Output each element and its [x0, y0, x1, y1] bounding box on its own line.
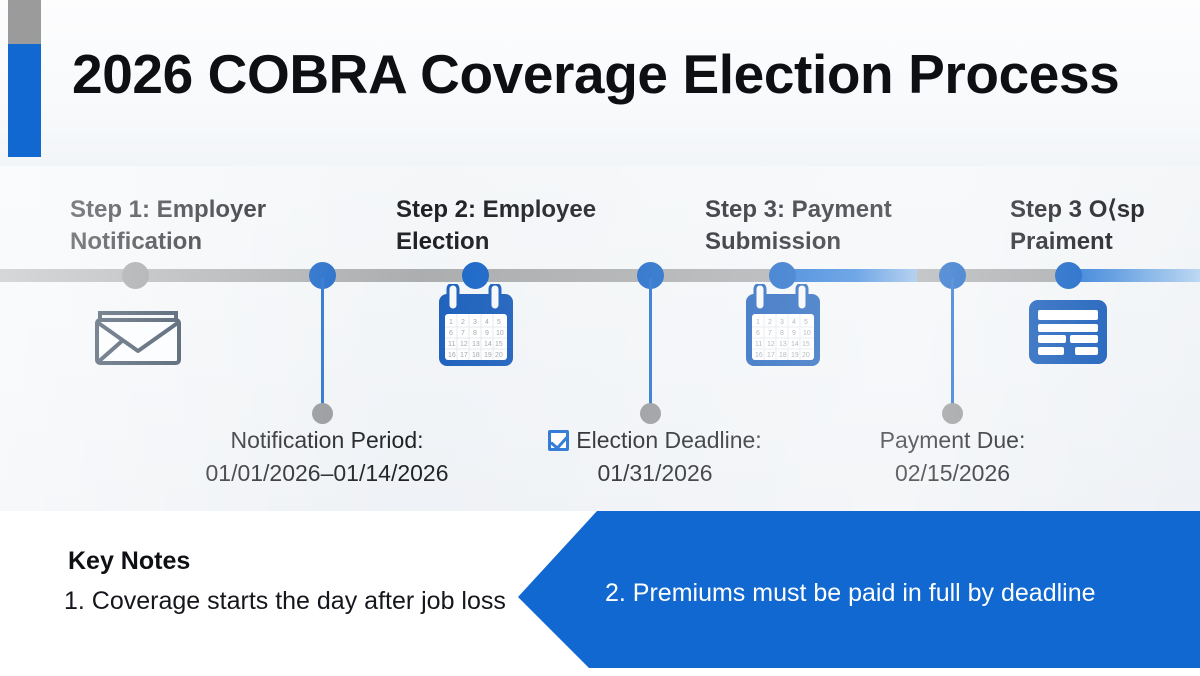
svg-text:13: 13: [472, 341, 480, 348]
svg-text:6: 6: [756, 330, 760, 337]
svg-text:19: 19: [791, 352, 799, 359]
step-title-4: Step 3 Ο⟨sp Praiment: [1010, 194, 1145, 257]
timeline-node-1[interactable]: [122, 262, 149, 289]
svg-text:19: 19: [484, 352, 492, 359]
milestone-2-value: 01/31/2026: [510, 457, 800, 490]
connector-dot-1: [312, 403, 333, 424]
milestone-2-line: Election Deadline:: [510, 424, 800, 457]
svg-text:11: 11: [755, 341, 762, 348]
svg-text:20: 20: [495, 352, 503, 359]
svg-text:15: 15: [802, 341, 810, 348]
connector-dot-3: [942, 403, 963, 424]
slide-canvas: 2026 COBRA Coverage Election Process Ste…: [0, 0, 1200, 676]
svg-text:13: 13: [779, 341, 787, 348]
timeline-band: Step 1: Employer Notification Step 2: Em…: [0, 166, 1200, 511]
connector-stem-1: [321, 278, 324, 412]
timeline-rail-highlight-2: [1068, 269, 1200, 282]
svg-text:5: 5: [497, 319, 501, 326]
milestone-1: Notification Period: 01/01/2026–01/14/20…: [182, 424, 472, 489]
connector-dot-2: [640, 403, 661, 424]
connector-stem-2: [649, 278, 652, 412]
milestone-3: Payment Due: 02/15/2026: [830, 424, 1075, 489]
svg-text:8: 8: [473, 330, 477, 337]
svg-text:2: 2: [768, 319, 772, 326]
svg-text:9: 9: [792, 330, 796, 337]
accent-bar-blue: [8, 44, 41, 157]
svg-text:18: 18: [779, 352, 787, 359]
payment-card-icon: [1029, 300, 1107, 369]
svg-text:5: 5: [804, 319, 808, 326]
envelope-icon: [92, 302, 184, 373]
svg-text:9: 9: [485, 330, 489, 337]
svg-text:1: 1: [756, 319, 760, 326]
header-band: 2026 COBRA Coverage Election Process: [0, 0, 1200, 166]
timeline-node-7[interactable]: [1055, 262, 1082, 289]
svg-text:6: 6: [449, 330, 453, 337]
svg-text:18: 18: [472, 352, 480, 359]
svg-text:10: 10: [803, 330, 811, 337]
svg-text:12: 12: [767, 341, 775, 348]
svg-text:20: 20: [802, 352, 810, 359]
step-title-3: Step 3: Payment Submission: [705, 194, 892, 257]
milestone-2: Election Deadline: 01/31/2026: [510, 424, 800, 489]
svg-text:11: 11: [448, 341, 455, 348]
timeline-rail: [0, 269, 1200, 282]
svg-text:2: 2: [461, 319, 465, 326]
svg-text:14: 14: [484, 341, 492, 348]
milestone-3-value: 02/15/2026: [830, 457, 1075, 490]
svg-text:12: 12: [460, 341, 468, 348]
svg-text:4: 4: [792, 319, 796, 326]
svg-text:4: 4: [485, 319, 489, 326]
svg-text:17: 17: [460, 352, 468, 359]
svg-text:10: 10: [496, 330, 504, 337]
svg-text:14: 14: [791, 341, 799, 348]
milestone-3-label: Payment Due:: [830, 424, 1075, 457]
checkbox-checked-icon[interactable]: [548, 430, 569, 451]
key-notes-title: Key Notes: [68, 547, 190, 576]
timeline-rail-highlight-1: [782, 269, 917, 282]
connector-stem-3: [951, 278, 954, 412]
key-note-1: 1. Coverage starts the day after job los…: [64, 587, 506, 616]
accent-bar-gray: [8, 0, 41, 44]
step-title-2: Step 2: Employee Election: [396, 194, 596, 257]
calendar-icon-2: 12345 678910 1112131415 1617181920: [436, 284, 516, 375]
page-title: 2026 COBRA Coverage Election Process: [72, 42, 1119, 106]
svg-text:3: 3: [473, 319, 477, 326]
svg-text:7: 7: [461, 330, 465, 337]
svg-text:3: 3: [780, 319, 784, 326]
calendar-icon-3: 12345 678910 1112131415 1617181920: [743, 284, 823, 375]
step-title-1: Step 1: Employer Notification: [70, 194, 266, 257]
milestone-2-label: Election Deadline:: [576, 427, 761, 453]
bottom-strip: [0, 668, 1200, 676]
key-note-2: 2. Premiums must be paid in full by dead…: [605, 579, 1096, 608]
svg-text:7: 7: [768, 330, 772, 337]
milestone-1-value: 01/01/2026–01/14/2026: [182, 457, 472, 490]
svg-text:8: 8: [780, 330, 784, 337]
svg-text:15: 15: [495, 341, 503, 348]
svg-text:16: 16: [755, 352, 763, 359]
svg-text:1: 1: [449, 319, 453, 326]
svg-text:17: 17: [767, 352, 775, 359]
svg-text:16: 16: [448, 352, 456, 359]
milestone-1-label: Notification Period:: [182, 424, 472, 457]
